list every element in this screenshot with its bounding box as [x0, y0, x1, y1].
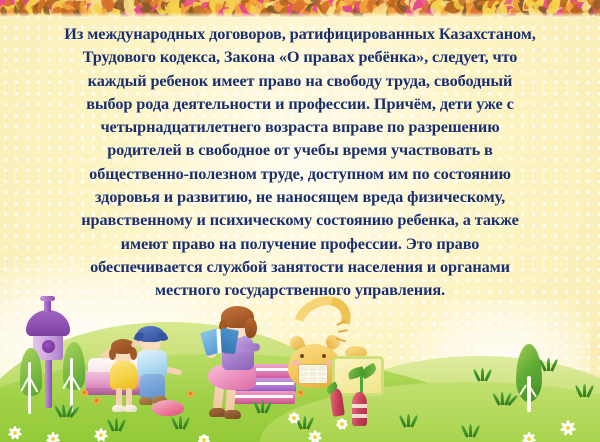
poster-text-line-2: Трудового кодекса, Закона «О правах ребё… [8, 45, 592, 68]
leaf-border-decoration [0, 0, 600, 17]
daisy-flower [558, 418, 578, 438]
flower-small [296, 388, 305, 397]
daisy-flower [92, 426, 110, 442]
flower-small [80, 388, 89, 397]
poster-text-line-8: здоровья и развитию, не наносящем вреда … [8, 185, 592, 208]
pink-cushion [152, 400, 184, 416]
poster-body-text: Из международных договоров, ратифицирова… [8, 22, 592, 302]
poster-text-line-3: каждый ребенок имеет право на свободу тр… [8, 69, 592, 92]
daisy-flower [306, 428, 324, 442]
poster-text-line-7: общественно-полезном труде, доступном им… [8, 162, 592, 185]
illustration-scene [0, 292, 600, 442]
daisy-flower [334, 416, 350, 432]
poster-canvas: Из международных договоров, ратифицирова… [0, 0, 600, 442]
daisy-flower [520, 430, 537, 442]
daisy-flower [6, 424, 24, 442]
daisy-flower [286, 410, 301, 425]
daisy-flower [44, 430, 62, 442]
poster-text-line-5: четырнадцатилетнего возраста вправе по р… [8, 115, 592, 138]
poster-text-line-6: родителей в свободное от учебы время уча… [8, 138, 592, 161]
poster-text-line-1: Из международных договоров, ратифицирова… [8, 22, 592, 45]
poster-text-line-11: обеспечивается службой занятости населен… [8, 255, 592, 278]
daisy-flower [196, 432, 212, 442]
flower-small [92, 396, 101, 405]
poster-text-line-4: выбор рода деятельности и профессии. При… [8, 92, 592, 115]
leaf-border-fade [0, 12, 600, 17]
poster-text-line-9: нравственному и психическому состоянию р… [8, 208, 592, 231]
flower-small [186, 389, 195, 398]
poster-text-line-10: имеют право на получение профессии. Это … [8, 232, 592, 255]
